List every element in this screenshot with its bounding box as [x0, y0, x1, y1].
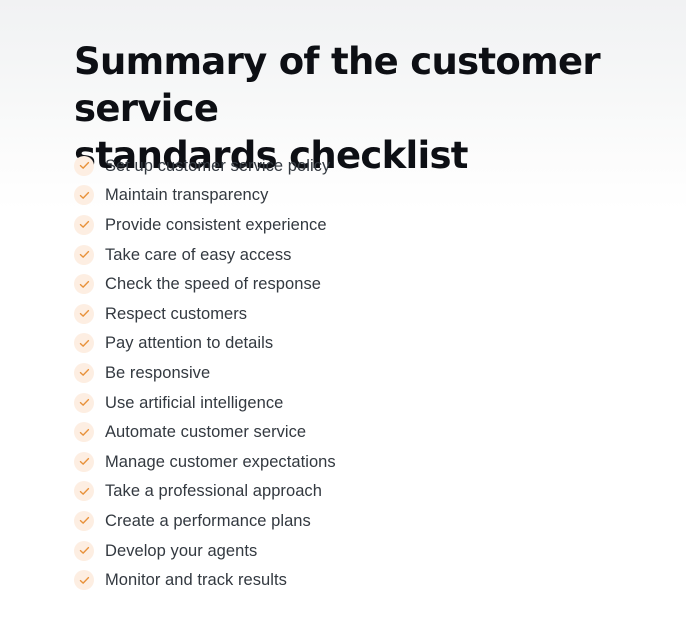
check-icon [74, 363, 94, 383]
checklist-item[interactable]: Pay attention to details [74, 329, 654, 359]
checklist-item-label: Set up customer service policy [105, 156, 330, 176]
checklist-item[interactable]: Use artificial intelligence [74, 388, 654, 418]
check-icon [74, 274, 94, 294]
check-icon [74, 541, 94, 561]
check-icon [74, 481, 94, 501]
checklist-item-label: Respect customers [105, 304, 247, 324]
checklist-item-label: Take care of easy access [105, 245, 291, 265]
checklist-item-label: Check the speed of response [105, 274, 321, 294]
check-icon [74, 245, 94, 265]
checklist-item[interactable]: Set up customer service policy [74, 151, 654, 181]
checklist-item-label: Create a performance plans [105, 511, 311, 531]
check-icon [74, 570, 94, 590]
check-icon [74, 422, 94, 442]
checklist-item[interactable]: Automate customer service [74, 417, 654, 447]
page-title-line-1: Summary of the customer service [74, 40, 600, 130]
check-icon [74, 185, 94, 205]
checklist-item-label: Provide consistent experience [105, 215, 327, 235]
checklist-item[interactable]: Check the speed of response [74, 269, 654, 299]
check-icon [74, 393, 94, 413]
check-icon [74, 156, 94, 176]
checklist-item[interactable]: Take a professional approach [74, 477, 654, 507]
page-canvas: Summary of the customer service standard… [0, 0, 686, 619]
checklist-item-label: Take a professional approach [105, 481, 322, 501]
check-icon [74, 511, 94, 531]
checklist-item-label: Develop your agents [105, 541, 257, 561]
check-icon [74, 452, 94, 472]
checklist-item-label: Maintain transparency [105, 185, 268, 205]
check-icon [74, 304, 94, 324]
checklist-item[interactable]: Manage customer expectations [74, 447, 654, 477]
checklist-item[interactable]: Maintain transparency [74, 181, 654, 211]
checklist-item[interactable]: Take care of easy access [74, 240, 654, 270]
checklist-item-label: Monitor and track results [105, 570, 287, 590]
checklist-item[interactable]: Respect customers [74, 299, 654, 329]
checklist-item-label: Be responsive [105, 363, 210, 383]
checklist-item-label: Manage customer expectations [105, 452, 336, 472]
checklist-item[interactable]: Monitor and track results [74, 565, 654, 595]
checklist: Set up customer service policyMaintain t… [74, 151, 654, 595]
checklist-item-label: Automate customer service [105, 422, 306, 442]
check-icon [74, 333, 94, 353]
checklist-item-label: Pay attention to details [105, 333, 273, 353]
checklist-item[interactable]: Provide consistent experience [74, 210, 654, 240]
checklist-item[interactable]: Create a performance plans [74, 506, 654, 536]
checklist-item[interactable]: Develop your agents [74, 536, 654, 566]
check-icon [74, 215, 94, 235]
checklist-item[interactable]: Be responsive [74, 358, 654, 388]
checklist-item-label: Use artificial intelligence [105, 393, 283, 413]
